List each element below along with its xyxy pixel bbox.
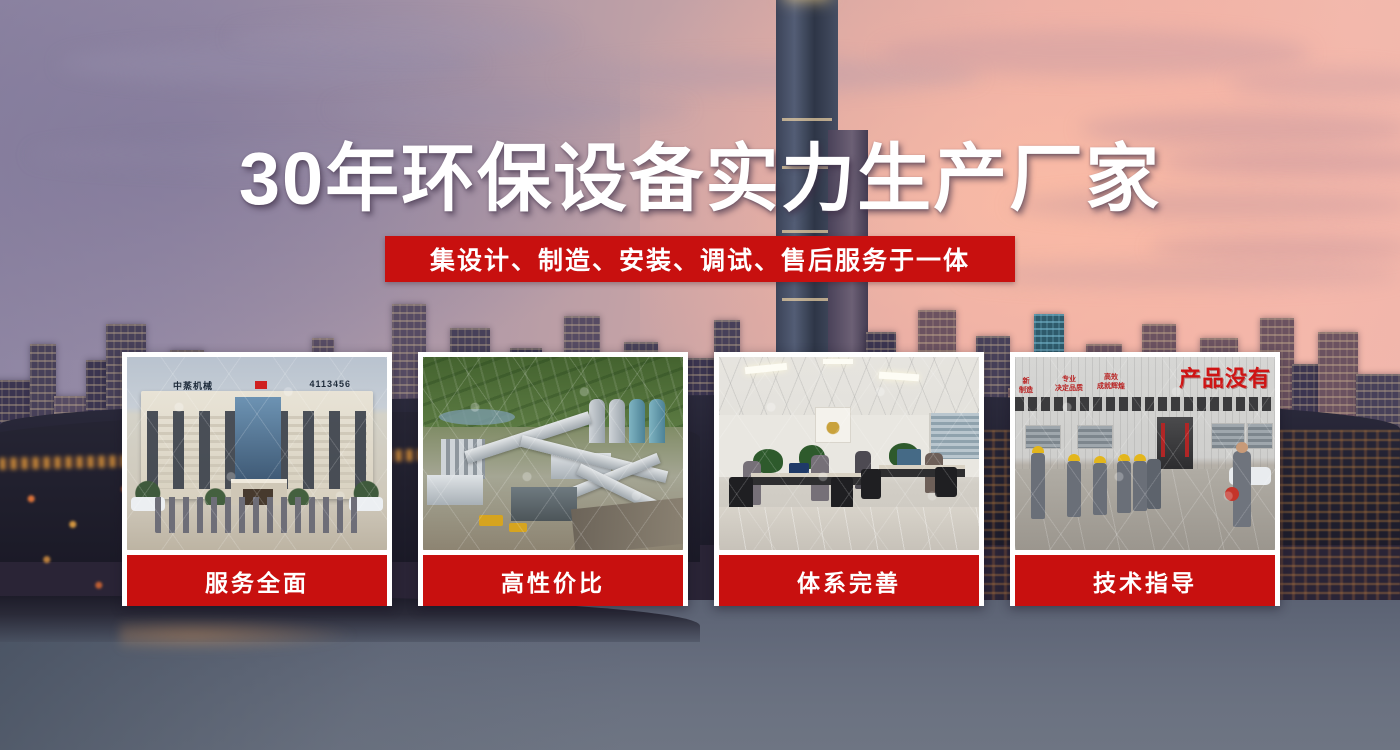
worker	[1067, 461, 1081, 517]
feature-card[interactable]: 体系完善	[714, 352, 984, 606]
company-building-photo: 中蒸机械 4113456	[127, 357, 387, 550]
factory-window	[1077, 425, 1113, 449]
factory-window	[1247, 423, 1273, 449]
subtitle-text: 集设计、制造、安装、调试、售后服务于一体	[430, 241, 970, 277]
building-phone-text: 4113456	[309, 379, 351, 389]
worker	[1117, 461, 1131, 513]
office-chair	[861, 469, 881, 499]
factory-small-slogan: 专业决定品质	[1055, 375, 1083, 393]
plant-building	[511, 487, 577, 521]
ceiling-light	[823, 359, 853, 364]
tower-light-band	[782, 230, 832, 233]
wall-vent-band	[1015, 397, 1275, 411]
excavator	[509, 523, 527, 532]
card-caption-text: 服务全面	[205, 564, 309, 598]
plant-building	[427, 475, 483, 505]
silo	[629, 399, 645, 443]
card-caption-text: 体系完善	[797, 564, 901, 598]
excavator	[479, 515, 503, 526]
building-sign-text: 中蒸机械	[173, 379, 213, 392]
factory-door	[1157, 417, 1193, 469]
tower-light-band	[782, 118, 832, 121]
hardhat-icon	[1032, 446, 1044, 453]
worker	[1031, 453, 1045, 519]
wall-poster	[815, 407, 851, 443]
worker	[1133, 461, 1147, 511]
red-hardhat-held	[1225, 487, 1239, 501]
silo	[609, 399, 625, 443]
water-reflection	[120, 618, 360, 652]
card-caption-text: 技术指导	[1093, 564, 1197, 598]
card-caption: 服务全面	[127, 555, 387, 606]
factory-slogan-text: 产品没有	[1179, 361, 1271, 393]
office-chair	[935, 467, 957, 497]
office-floor	[719, 507, 979, 550]
page-title: 30年环保设备实力生产厂家	[0, 136, 1400, 221]
worker-training-photo: 产品没有 新制造 专业决定品质 高效成就辉煌	[1015, 357, 1275, 550]
feature-card-list: 中蒸机械 4113456 服务全面	[122, 352, 1278, 606]
aerial-plant-photo	[423, 357, 683, 550]
flag-icon	[255, 381, 267, 389]
feature-card[interactable]: 高性价比	[418, 352, 688, 606]
supervisor-head	[1236, 442, 1248, 453]
factory-small-slogan: 新制造	[1019, 377, 1033, 395]
cloud	[230, 22, 570, 52]
cloud	[330, 96, 690, 122]
tower-light-band	[782, 298, 832, 301]
feature-card[interactable]: 中蒸机械 4113456 服务全面	[122, 352, 392, 606]
office-interior-photo	[719, 357, 979, 550]
silo	[589, 399, 605, 443]
staff-lineup	[155, 497, 365, 533]
card-caption: 体系完善	[719, 555, 979, 606]
card-caption: 技术指导	[1015, 555, 1275, 606]
cloud	[880, 30, 1310, 76]
hardhat-icon	[1118, 454, 1130, 461]
hardhat-icon	[1094, 456, 1106, 463]
subtitle-banner: 集设计、制造、安装、调试、售后服务于一体	[385, 236, 1015, 282]
feature-card[interactable]: 产品没有 新制造 专业决定品质 高效成就辉煌	[1010, 352, 1280, 606]
worker	[1093, 463, 1107, 515]
hardhat-icon	[1068, 454, 1080, 461]
hardhat-icon	[1134, 454, 1146, 461]
worker	[1147, 459, 1161, 509]
silo	[649, 399, 665, 443]
office-chair	[831, 477, 853, 509]
card-caption-text: 高性价比	[501, 564, 605, 598]
factory-window	[1025, 425, 1061, 449]
pond	[439, 409, 515, 425]
factory-small-slogan: 高效成就辉煌	[1097, 373, 1125, 391]
office-chair	[729, 477, 753, 511]
hero-banner: 30年环保设备实力生产厂家 集设计、制造、安装、调试、售后服务于一体 中蒸机械 …	[0, 0, 1400, 750]
site-road	[571, 497, 683, 550]
card-caption: 高性价比	[423, 555, 683, 606]
